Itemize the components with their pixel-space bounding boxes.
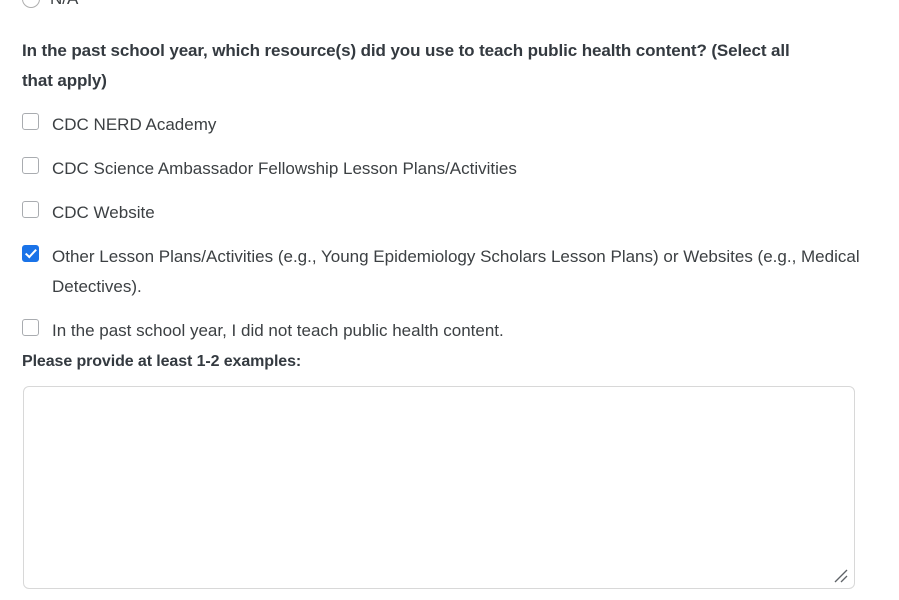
previous-question-option-na[interactable]: N/A [22, 0, 78, 10]
checkbox-unchecked-icon[interactable] [22, 201, 39, 218]
list-item[interactable]: Other Lesson Plans/Activities (e.g., You… [22, 242, 872, 302]
examples-textarea[interactable] [23, 386, 855, 589]
checkbox-option-label: CDC NERD Academy [52, 110, 216, 140]
list-item[interactable]: CDC Website [22, 198, 872, 228]
checkbox-option-label: Other Lesson Plans/Activities (e.g., You… [52, 242, 864, 302]
examples-input-container [23, 386, 855, 589]
examples-prompt-label: Please provide at least 1-2 examples: [22, 350, 301, 374]
list-item[interactable]: CDC Science Ambassador Fellowship Lesson… [22, 154, 872, 184]
list-item[interactable]: CDC NERD Academy [22, 110, 872, 140]
checkbox-option-list: CDC NERD Academy CDC Science Ambassador … [22, 110, 872, 346]
checkbox-unchecked-icon[interactable] [22, 157, 39, 174]
radio-option-label: N/A [50, 0, 78, 10]
checkbox-option-label: CDC Science Ambassador Fellowship Lesson… [52, 154, 517, 184]
radio-unselected-icon[interactable] [22, 0, 40, 8]
checkbox-option-label: In the past school year, I did not teach… [52, 316, 504, 346]
checkbox-checked-icon[interactable] [22, 245, 39, 262]
survey-question-page: N/A In the past school year, which resou… [0, 0, 899, 600]
checkbox-unchecked-icon[interactable] [22, 319, 39, 336]
checkbox-unchecked-icon[interactable] [22, 113, 39, 130]
list-item[interactable]: In the past school year, I did not teach… [22, 316, 872, 346]
checkbox-option-label: CDC Website [52, 198, 155, 228]
page-title: In the past school year, which resource(… [22, 36, 822, 96]
